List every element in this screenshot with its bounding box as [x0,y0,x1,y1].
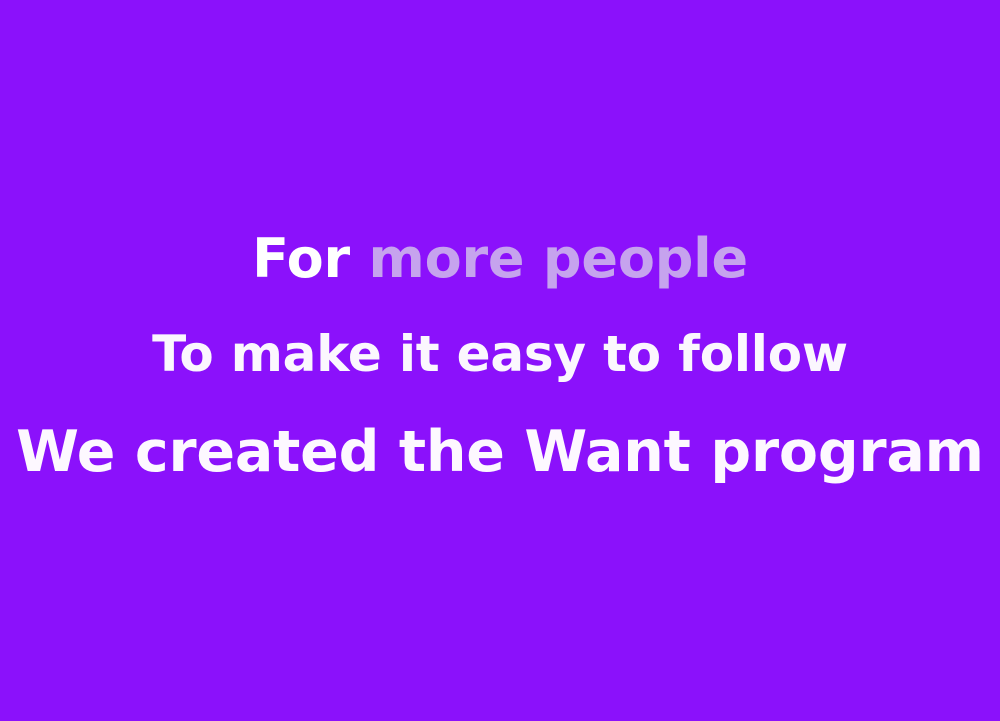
slide-line-1-accent-text: more people [369,227,748,290]
slide-text-block: For more people To make it easy to follo… [0,232,1000,481]
slide-line-3: We created the Want program [0,424,1000,481]
slide-canvas: For more people To make it easy to follo… [0,0,1000,721]
slide-line-2: To make it easy to follow [0,329,1000,379]
slide-line-1-primary-text: For [252,227,368,290]
slide-line-1: For more people [0,232,1000,286]
